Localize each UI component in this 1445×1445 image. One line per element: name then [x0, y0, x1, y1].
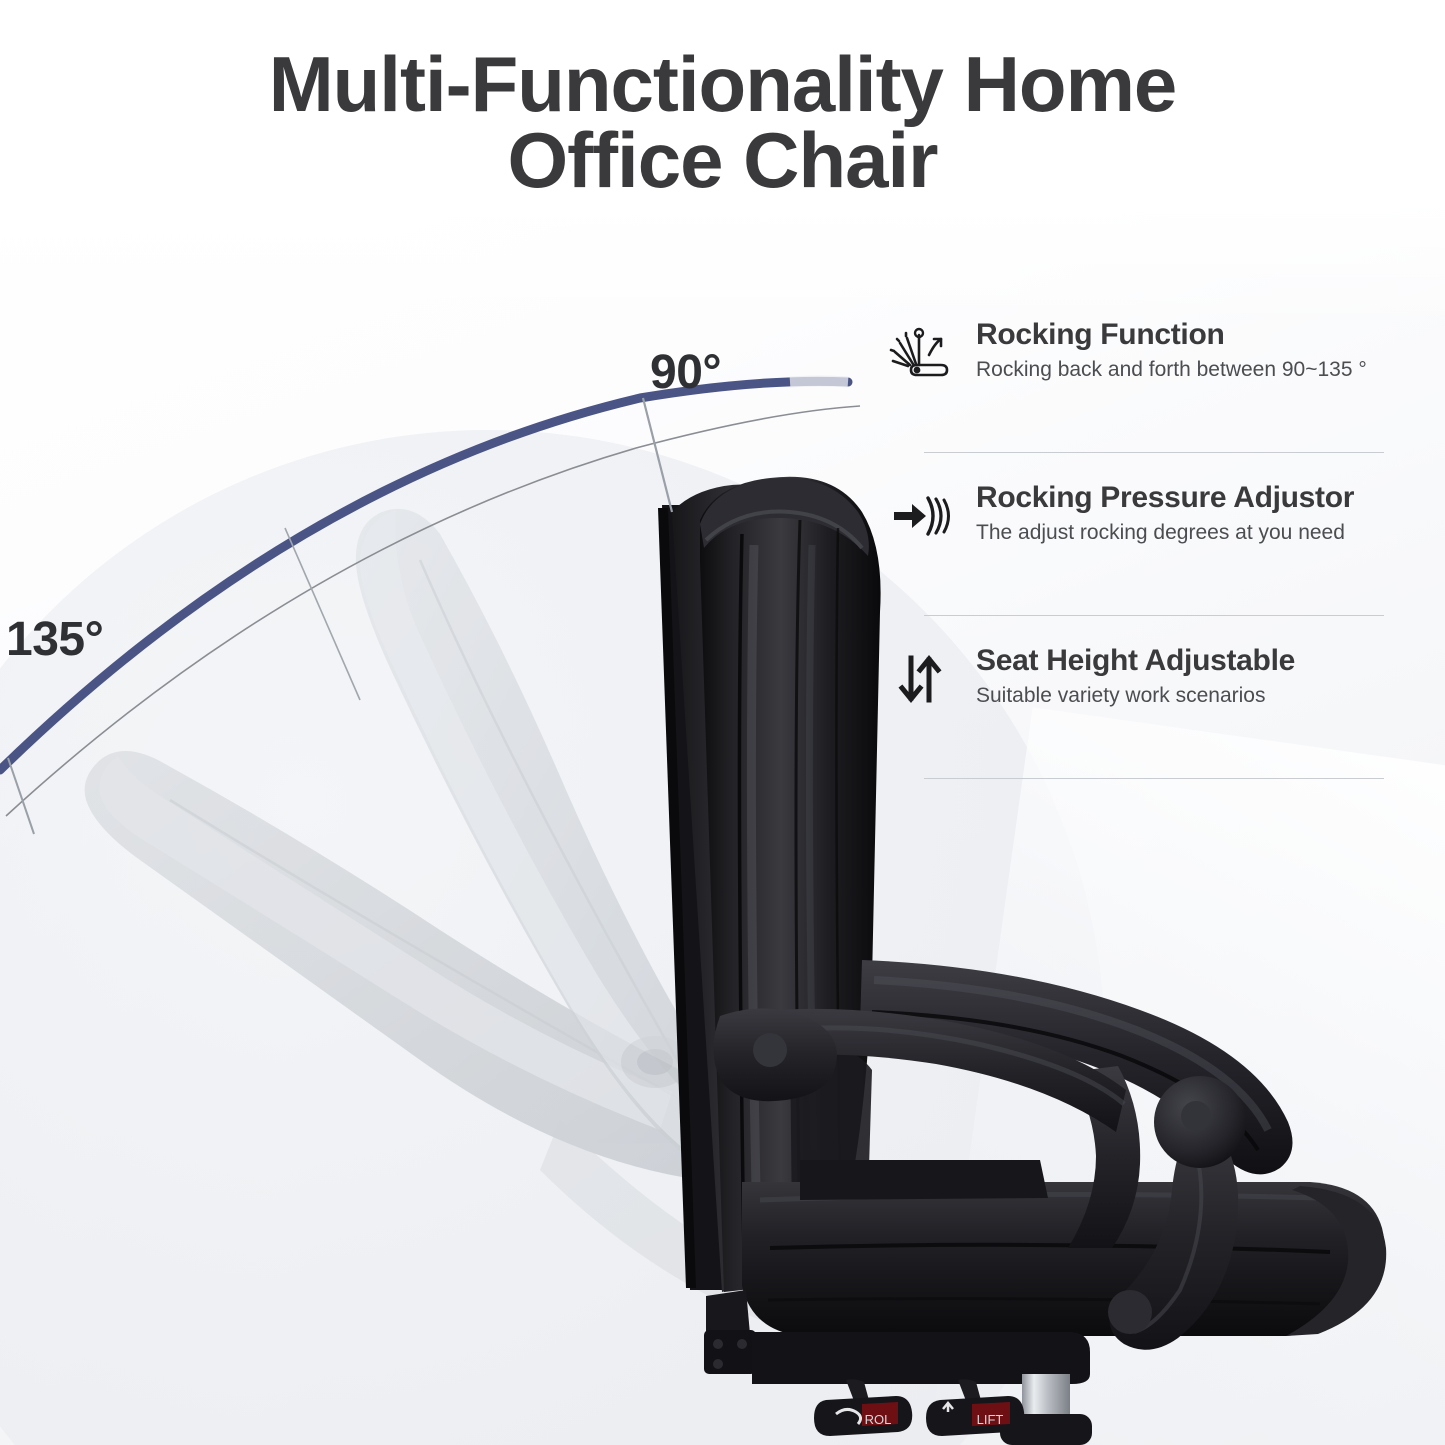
feature-divider-2 [924, 615, 1384, 616]
feature-text-block: Seat Height Adjustable Suitable variety … [976, 644, 1424, 709]
feature-item-rocking-function: Rocking Function Rocking back and forth … [884, 316, 1424, 422]
feature-list: Rocking Function Rocking back and forth … [884, 316, 1424, 805]
feature-text-block: Rocking Function Rocking back and forth … [976, 318, 1424, 383]
feature-item-seat-height-adjustable: Seat Height Adjustable Suitable variety … [884, 642, 1424, 748]
pressure-wave-arrow-icon [884, 485, 958, 547]
infographic-canvas: Multi-Functionality Home Office Chair [0, 0, 1445, 1445]
feature-heading: Rocking Function [976, 318, 1424, 351]
feature-heading: Seat Height Adjustable [976, 644, 1424, 677]
feature-text-block: Rocking Pressure Adjustor The adjust roc… [976, 481, 1424, 546]
feature-divider-1 [924, 452, 1384, 453]
feature-description: Rocking back and forth between 90~135 ° [976, 357, 1424, 383]
angle-label-135: 135° [6, 612, 103, 667]
feature-description: The adjust rocking degrees at you need [976, 520, 1424, 546]
reclining-chair-rocking-icon [884, 322, 958, 384]
feature-item-rocking-pressure-adjustor: Rocking Pressure Adjustor The adjust roc… [884, 479, 1424, 585]
angle-label-90: 90° [650, 345, 721, 400]
feature-divider-3 [924, 778, 1384, 779]
feature-heading: Rocking Pressure Adjustor [976, 481, 1424, 514]
feature-description: Suitable variety work scenarios [976, 683, 1424, 709]
angle-arc-outer [0, 381, 848, 770]
leader-line-135 [8, 758, 34, 834]
leader-line-90 [643, 398, 672, 512]
leader-line-mid [285, 528, 360, 700]
up-down-arrows-icon [884, 648, 958, 710]
